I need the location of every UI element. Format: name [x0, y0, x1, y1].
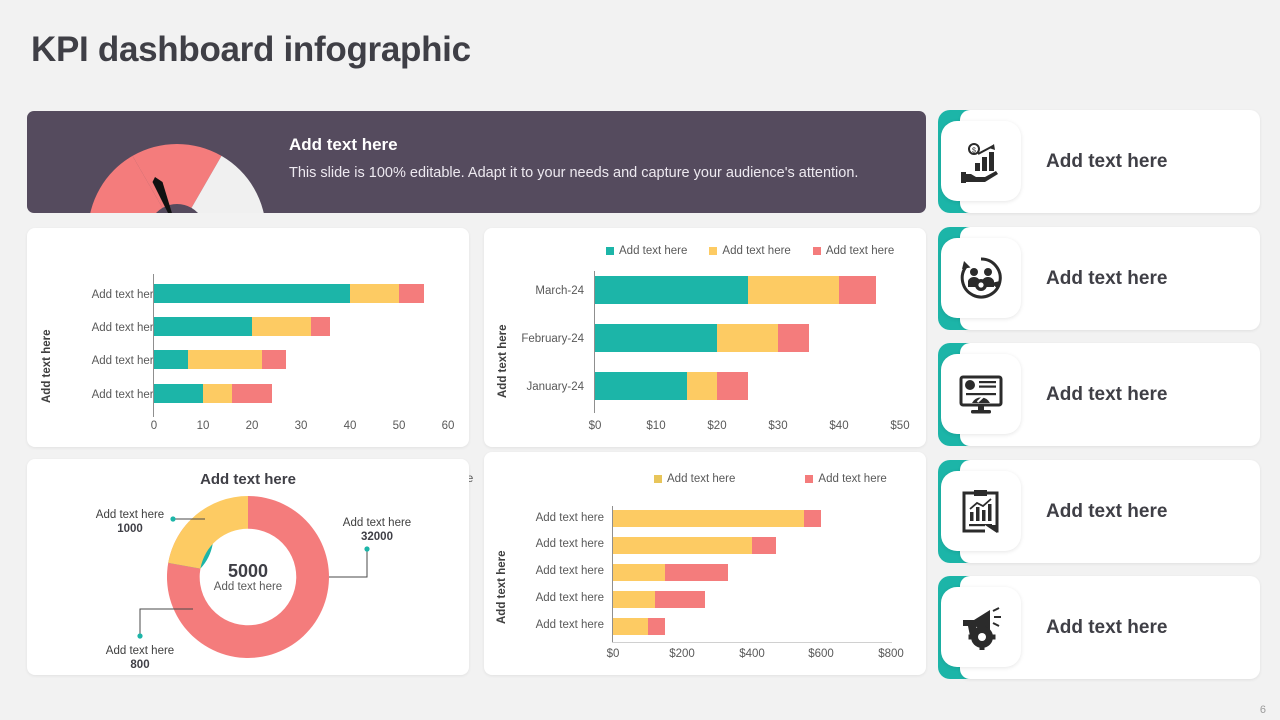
icon-card-label: Add text here	[1046, 110, 1167, 213]
chart4-category-label: Add text here	[504, 592, 604, 604]
donut-callout-value: 800	[95, 659, 185, 671]
chart1-category-label: Add text here	[37, 389, 160, 401]
icon-card-5[interactable]: Add text here	[938, 576, 1260, 679]
chart4-category-label: Add text here	[504, 565, 604, 577]
icon-card-2[interactable]: Add text here	[938, 227, 1260, 330]
page-number: 6	[1260, 704, 1266, 716]
chart4-y-axis-title: Add text here	[496, 551, 508, 625]
bar-segment	[154, 284, 350, 303]
legend-item: Add text here	[813, 245, 894, 257]
chart4-x-tick: $400	[732, 648, 772, 660]
chart1-x-tick: 10	[183, 420, 223, 432]
legend-label: Add text here	[818, 473, 886, 485]
bar-segment	[595, 276, 748, 304]
team-cycle-icon	[958, 255, 1004, 301]
gauge-banner-text: Add text here This slide is 100% editabl…	[289, 135, 926, 181]
legend-swatch	[606, 247, 614, 255]
chart-card-donut: Add text here 5000 Add text here Add tex…	[27, 459, 469, 675]
chart4-category-label: Add text here	[504, 619, 604, 631]
chart1-x-tick: 40	[330, 420, 370, 432]
hand-money-growth-icon: $	[958, 138, 1004, 184]
legend-label: Add text here	[722, 245, 790, 257]
bar-segment	[399, 284, 424, 303]
chart2-x-tick: $50	[880, 420, 920, 432]
chart1-x-tick: 60	[428, 420, 468, 432]
icon-tile	[941, 354, 1021, 434]
bar-segment	[748, 276, 840, 304]
chart4-x-tick: $200	[662, 648, 702, 660]
chart2-category-label: January-24	[504, 381, 584, 393]
monitor-dashboard-icon	[958, 371, 1004, 417]
chart1-bar-row	[154, 350, 287, 369]
bar-segment	[154, 350, 188, 369]
bar-segment	[188, 350, 262, 369]
chart4-x-tick: $0	[593, 648, 633, 660]
icon-card-label: Add text here	[1046, 576, 1167, 679]
clipboard-chart-icon	[958, 488, 1004, 534]
donut-callout-value: 1000	[85, 523, 175, 535]
icon-card-1[interactable]: $ Add text here	[938, 110, 1260, 213]
chart4-legend: Add text here Add text here	[654, 473, 887, 485]
chart2-legend: Add text here Add text here Add text her…	[606, 245, 894, 257]
bar-segment	[154, 384, 203, 403]
chart2-x-tick: $40	[819, 420, 859, 432]
chart2-x-tick: $10	[636, 420, 676, 432]
legend-label: Add text here	[667, 473, 735, 485]
bar-segment	[613, 591, 655, 608]
legend-swatch	[654, 475, 662, 483]
chart4-x-tick: $600	[801, 648, 841, 660]
legend-label: Add text here	[826, 245, 894, 257]
bar-segment	[613, 510, 804, 527]
chart4-bar-row	[613, 537, 776, 554]
chart2-category-label: February-24	[504, 333, 584, 345]
chart1-category-label: Add text here	[37, 289, 160, 301]
legend-item: Add text here	[606, 245, 687, 257]
chart-card-stacked-bar-categories: Add text here Add text here Add text her…	[27, 228, 469, 447]
donut-callout-red: Add text here 32000	[327, 517, 427, 543]
icon-tile	[941, 238, 1021, 318]
icon-tile: $	[941, 121, 1021, 201]
chart4-category-label: Add text here	[504, 512, 604, 524]
slide-root: KPI dashboard infographic Add text here …	[0, 0, 1280, 720]
chart4-bar-row	[613, 564, 728, 581]
banner-body: This slide is 100% editable. Adapt it to…	[289, 165, 926, 181]
gauge-chart	[74, 129, 281, 213]
bar-segment	[350, 284, 399, 303]
donut-callout-yellow: Add text here 1000	[85, 509, 175, 535]
legend-item: Add text here	[654, 473, 735, 485]
icon-card-label: Add text here	[1046, 343, 1167, 446]
bar-segment	[752, 537, 776, 554]
icon-card-label: Add text here	[1046, 460, 1167, 563]
gauge-banner-panel: Add text here This slide is 100% editabl…	[27, 111, 926, 213]
megaphone-gear-icon	[958, 604, 1004, 650]
bar-segment	[717, 324, 778, 352]
chart2-bar-row	[595, 372, 748, 400]
chart4-bar-row	[613, 618, 665, 635]
donut-center-value: 5000	[27, 561, 469, 582]
donut-callout-teal: Add text here 800	[95, 645, 185, 671]
chart1-x-tick: 20	[232, 420, 272, 432]
bar-segment	[655, 591, 705, 608]
bar-segment	[687, 372, 718, 400]
legend-swatch	[709, 247, 717, 255]
icon-card-label: Add text here	[1046, 227, 1167, 330]
donut-callout-label: Add text here	[343, 517, 411, 529]
legend-item: Add text here	[709, 245, 790, 257]
chart1-x-tick: 30	[281, 420, 321, 432]
chart-card-stacked-bar-months: Add text here Add text here Add text her…	[484, 228, 926, 447]
icon-tile	[941, 471, 1021, 551]
banner-heading: Add text here	[289, 135, 926, 155]
icon-card-3[interactable]: Add text here	[938, 343, 1260, 446]
bar-segment	[665, 564, 728, 581]
bar-segment	[613, 564, 665, 581]
bar-segment	[804, 510, 821, 527]
icon-tile	[941, 587, 1021, 667]
bar-segment	[595, 324, 717, 352]
bar-segment	[717, 372, 748, 400]
chart2-bar-row	[595, 276, 876, 304]
legend-label: Add text here	[619, 245, 687, 257]
bar-segment	[613, 618, 648, 635]
bar-segment	[252, 317, 311, 336]
chart1-bar-row	[154, 317, 331, 336]
bar-segment	[311, 317, 331, 336]
svg-text:$: $	[972, 148, 976, 155]
chart4-x-tick: $800	[871, 648, 911, 660]
bar-segment	[232, 384, 271, 403]
chart1-x-tick: 0	[134, 420, 174, 432]
legend-item: Add text here	[805, 473, 886, 485]
chart2-x-tick: $20	[697, 420, 737, 432]
bar-segment	[154, 317, 252, 336]
chart1-bar-row	[154, 284, 424, 303]
bar-segment	[262, 350, 287, 369]
donut-callout-label: Add text here	[96, 509, 164, 521]
bar-segment	[613, 537, 752, 554]
chart1-category-label: Add text here	[37, 322, 160, 334]
chart4-x-axis-line	[612, 642, 892, 643]
bar-segment	[839, 276, 876, 304]
icon-card-4[interactable]: Add text here	[938, 460, 1260, 563]
chart4-bar-row	[613, 591, 705, 608]
donut-center-label: Add text here	[27, 581, 469, 593]
chart1-x-tick: 50	[379, 420, 419, 432]
page-title: KPI dashboard infographic	[31, 30, 471, 70]
chart1-category-label: Add text here	[37, 355, 160, 367]
chart1-bar-row	[154, 384, 272, 403]
legend-swatch	[805, 475, 813, 483]
chart4-bar-row	[613, 510, 822, 527]
donut-callout-value: 32000	[327, 531, 427, 543]
chart2-x-tick: $0	[575, 420, 615, 432]
chart2-x-tick: $30	[758, 420, 798, 432]
chart4-category-label: Add text here	[504, 538, 604, 550]
chart2-category-label: March-24	[504, 285, 584, 297]
bar-segment	[648, 618, 665, 635]
bar-segment	[203, 384, 232, 403]
chart-card-stacked-bar-costs: Add text here Add text here Add text her…	[484, 452, 926, 675]
chart2-bar-row	[595, 324, 809, 352]
donut-callout-label: Add text here	[106, 645, 174, 657]
bar-segment	[778, 324, 809, 352]
bar-segment	[595, 372, 687, 400]
legend-swatch	[813, 247, 821, 255]
